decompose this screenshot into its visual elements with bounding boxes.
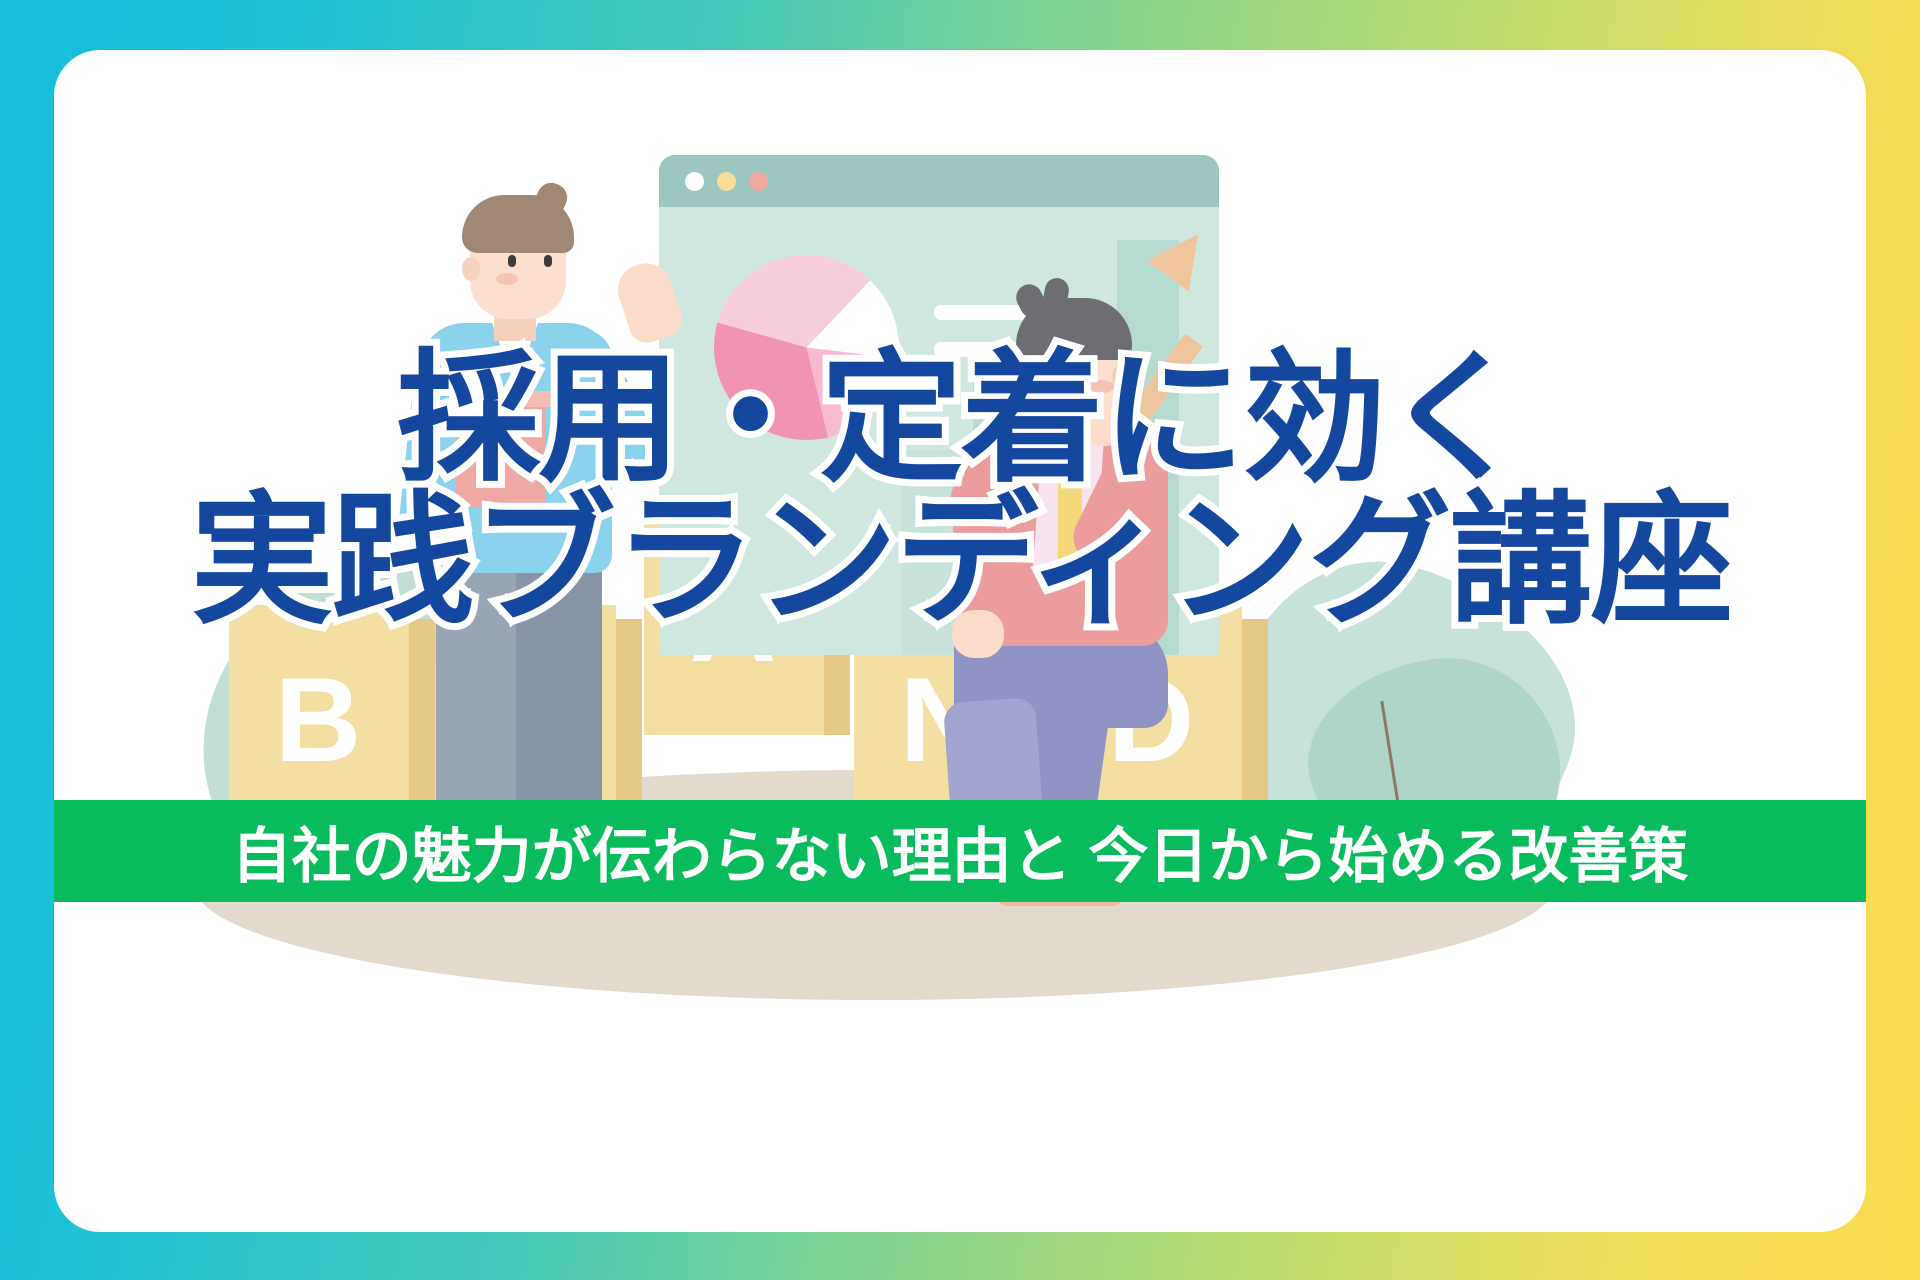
title-line-2: 実践ブランディング講座 — [66, 490, 1856, 633]
headline-block: 採用・定着に効く 実践ブランディング講座 自社の魅力が伝わらない理由と 今日から… — [54, 50, 1866, 1232]
title-line-1: 採用・定着に効く — [66, 348, 1856, 491]
banner-root: B R A N D — [0, 0, 1920, 1280]
subtitle-band: 自社の魅力が伝わらない理由と 今日から始める改善策 — [54, 800, 1866, 902]
subtitle-text: 自社の魅力が伝わらない理由と 今日から始める改善策 — [232, 808, 1689, 895]
white-card: B R A N D — [54, 50, 1866, 1232]
